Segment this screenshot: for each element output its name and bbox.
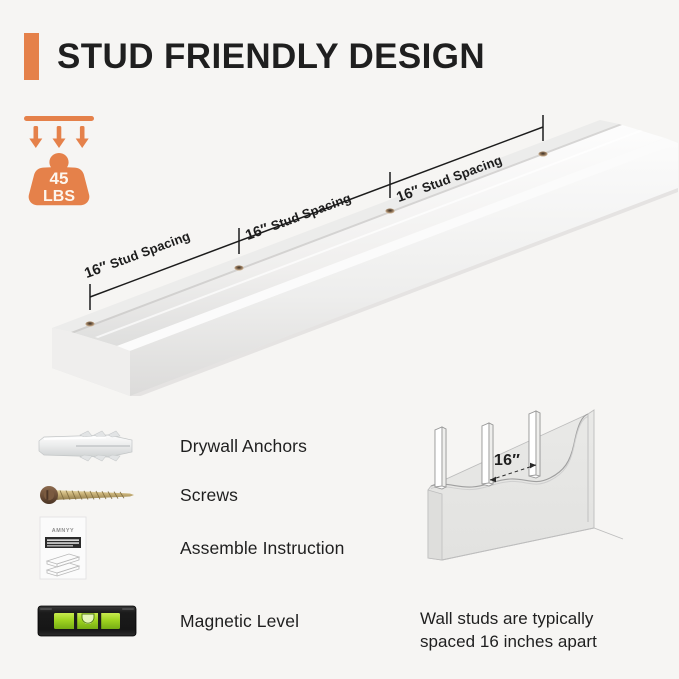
screw-hole xyxy=(385,208,394,213)
shelf-svg xyxy=(0,96,679,396)
page-title-row: STUD FRIENDLY DESIGN xyxy=(24,33,485,80)
feature-label: Magnetic Level xyxy=(180,611,299,632)
screw-hole xyxy=(538,151,547,156)
stud-spacing-label: 16″ xyxy=(494,452,520,470)
stud-diagram-caption: Wall studs are typically spaced 16 inche… xyxy=(420,607,670,654)
drywall-anchor-icon xyxy=(36,429,154,463)
svg-text:AMNYY: AMNYY xyxy=(52,528,74,534)
magnetic-level-icon xyxy=(36,601,154,641)
screw-hole xyxy=(234,265,243,270)
feature-item-magnetic-level: Magnetic Level xyxy=(36,593,299,649)
feature-item-assemble-instruction: AMNYY Assemb xyxy=(36,520,344,576)
title-accent-bar xyxy=(24,33,39,80)
instruction-manual-icon: AMNYY xyxy=(36,515,154,581)
infographic-page: STUD FRIENDLY DESIGN 45 LBS xyxy=(0,0,679,679)
feature-item-drywall-anchors: Drywall Anchors xyxy=(36,418,307,474)
caption-line-2: spaced 16 inches apart xyxy=(420,630,670,653)
feature-label: Drywall Anchors xyxy=(180,436,307,457)
caption-line-1: Wall studs are typically xyxy=(420,607,670,630)
screw-icon xyxy=(36,482,154,508)
feature-label: Screws xyxy=(180,485,238,506)
hero-product-illustration: 16″ Stud Spacing 16″ Stud Spacing 16″ St… xyxy=(0,96,679,396)
screw-hole xyxy=(85,321,94,326)
feature-label: Assemble Instruction xyxy=(180,538,344,559)
wall-stud-diagram: 16″ xyxy=(398,408,660,596)
page-title: STUD FRIENDLY DESIGN xyxy=(57,39,485,74)
